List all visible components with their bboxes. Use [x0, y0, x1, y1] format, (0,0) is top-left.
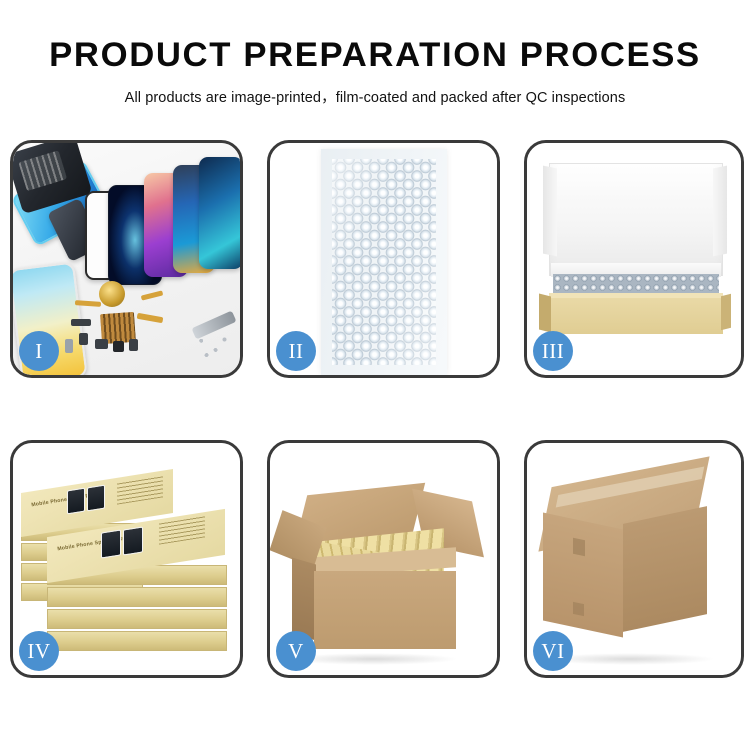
step-badge-1: I: [19, 331, 59, 371]
sim-tray-icon: [65, 339, 73, 353]
process-step-panel-5: V: [267, 440, 500, 678]
panel-3-image: III: [527, 143, 741, 375]
stack-box-phone-image-front-1: [101, 529, 121, 558]
bubble-wrap-highlight: [332, 159, 436, 365]
kraft-box-side-right: [721, 294, 731, 330]
panel-1-image: I: [13, 143, 240, 375]
sealed-carton-mark-lower: [573, 602, 584, 616]
battery-part-icon: [113, 341, 124, 352]
process-step-panel-1: I: [10, 140, 243, 378]
white-lid-flap-right: [713, 166, 727, 257]
gold-coil-part-icon: [99, 281, 125, 307]
stack-box-phone-image-rear-1: [67, 488, 85, 515]
step-badge-3: III: [533, 331, 573, 371]
small-part-icon-1: [71, 319, 91, 326]
kraft-box-front: [549, 298, 723, 334]
stack-box-layer-8: [47, 631, 227, 651]
page-title: PRODUCT PREPARATION PROCESS: [0, 0, 750, 75]
stack-box-layer-7: [47, 609, 227, 629]
process-step-panel-6: VI: [524, 440, 744, 678]
panel-5-image: V: [270, 443, 497, 675]
sealed-carton-front-face: [543, 512, 623, 637]
carton-front-face: [314, 571, 456, 649]
white-lid-flap-left: [543, 166, 557, 257]
step-badge-2: II: [276, 331, 316, 371]
page-subtitle: All products are image-printed，film-coat…: [0, 75, 750, 107]
process-step-panel-4: Mobile Phone Spare Parts Mobile Phone Sp…: [10, 440, 243, 678]
panel-4-image: Mobile Phone Spare Parts Mobile Phone Sp…: [13, 443, 240, 675]
teal-gradient-phone-icon: [199, 157, 240, 269]
stack-box-layer-6: [47, 587, 227, 607]
page-header: PRODUCT PREPARATION PROCESS All products…: [0, 0, 750, 107]
white-box-lid: [549, 163, 723, 276]
sealed-carton-right-face: [623, 506, 707, 632]
process-steps-grid: I II: [10, 140, 743, 678]
step-badge-4: IV: [19, 631, 59, 671]
kraft-box-side-left: [539, 294, 551, 333]
process-step-panel-3: III: [524, 140, 744, 378]
small-part-icon-4: [129, 339, 138, 351]
stack-box-phone-image-front-2: [123, 526, 143, 555]
panel-6-image: VI: [527, 443, 741, 675]
process-step-panel-2: II: [267, 140, 500, 378]
screws-icon: [194, 333, 230, 359]
stack-box-phone-image-rear-2: [87, 485, 105, 512]
box-stack: Mobile Phone Spare Parts Mobile Phone Sp…: [19, 461, 233, 661]
small-part-icon-2: [79, 333, 88, 345]
small-part-icon-3: [95, 339, 108, 349]
carton-side-left: [292, 558, 316, 641]
step-badge-5: V: [276, 631, 316, 671]
panel-2-image: II: [270, 143, 497, 375]
step-badge-6: VI: [533, 631, 573, 671]
sealed-carton-mark-upper: [573, 538, 585, 557]
